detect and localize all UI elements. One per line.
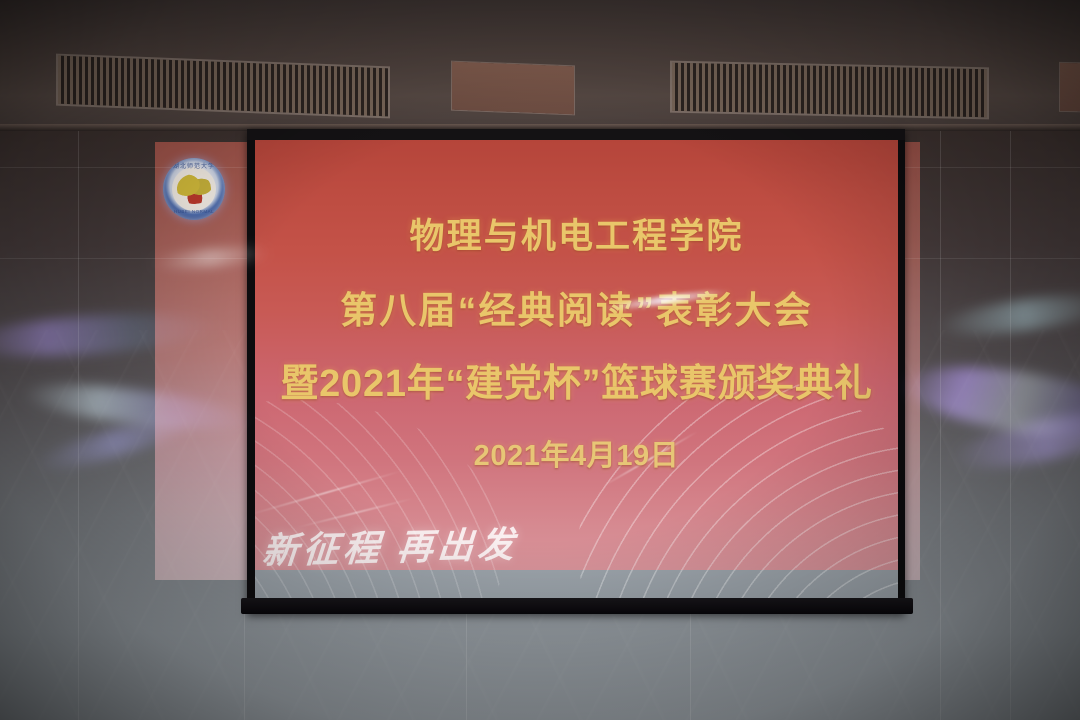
wall-panel-seam — [244, 598, 245, 720]
slide-text-block: 物理与机电工程学院 第八届“经典阅读”表彰大会 暨2021年“建党杯”篮球赛颁奖… — [255, 140, 898, 570]
slide-headline-line-2: 第八届“经典阅读”表彰大会 — [255, 280, 898, 334]
wall-panel-seam — [466, 600, 467, 720]
wall-panel-seam — [78, 120, 79, 720]
projection-screen-bottom-bar — [241, 598, 913, 614]
emblem-arc-bottom-text: HUBEI NORMAL UNIVERSITY — [163, 206, 225, 218]
projection-screen-surface: 物理与机电工程学院 第八届“经典阅读”表彰大会 暨2021年“建党杯”篮球赛颁奖… — [255, 140, 898, 598]
air-vent-center — [672, 63, 987, 118]
slide-headline-line-3: 暨2021年“建党杯”篮球赛颁奖典礼 — [255, 352, 898, 407]
projection-screen-top-bar — [247, 129, 905, 140]
photo-scene: 湖北师范大学 HUBEI NORMAL UNIVERSITY 物理与机电工程学院… — [0, 0, 1080, 720]
decorative-swoosh — [297, 498, 414, 529]
decorative-swoosh — [602, 431, 698, 488]
slide-date: 2021年4月19日 — [255, 432, 898, 474]
university-emblem: 湖北师范大学 HUBEI NORMAL UNIVERSITY — [163, 158, 225, 220]
slide-headline-line-1: 物理与机电工程学院 — [255, 208, 898, 259]
presentation-slide: 物理与机电工程学院 第八届“经典阅读”表彰大会 暨2021年“建党杯”篮球赛颁奖… — [255, 140, 898, 570]
slide-calligraphy: 新征程 再出发 — [261, 514, 596, 575]
ceiling-panel-left — [452, 62, 574, 115]
wall-panel-seam — [1010, 120, 1011, 720]
ceiling-panel-right — [1060, 63, 1080, 113]
wall-panel-seam — [940, 120, 941, 720]
decorative-swoosh — [255, 470, 402, 516]
decorative-arc-lines-left — [255, 400, 505, 598]
wall-panel-seam — [690, 600, 691, 720]
emblem-arc-top-text: 湖北师范大学 — [163, 161, 225, 173]
decorative-arc-lines-right — [578, 380, 898, 598]
